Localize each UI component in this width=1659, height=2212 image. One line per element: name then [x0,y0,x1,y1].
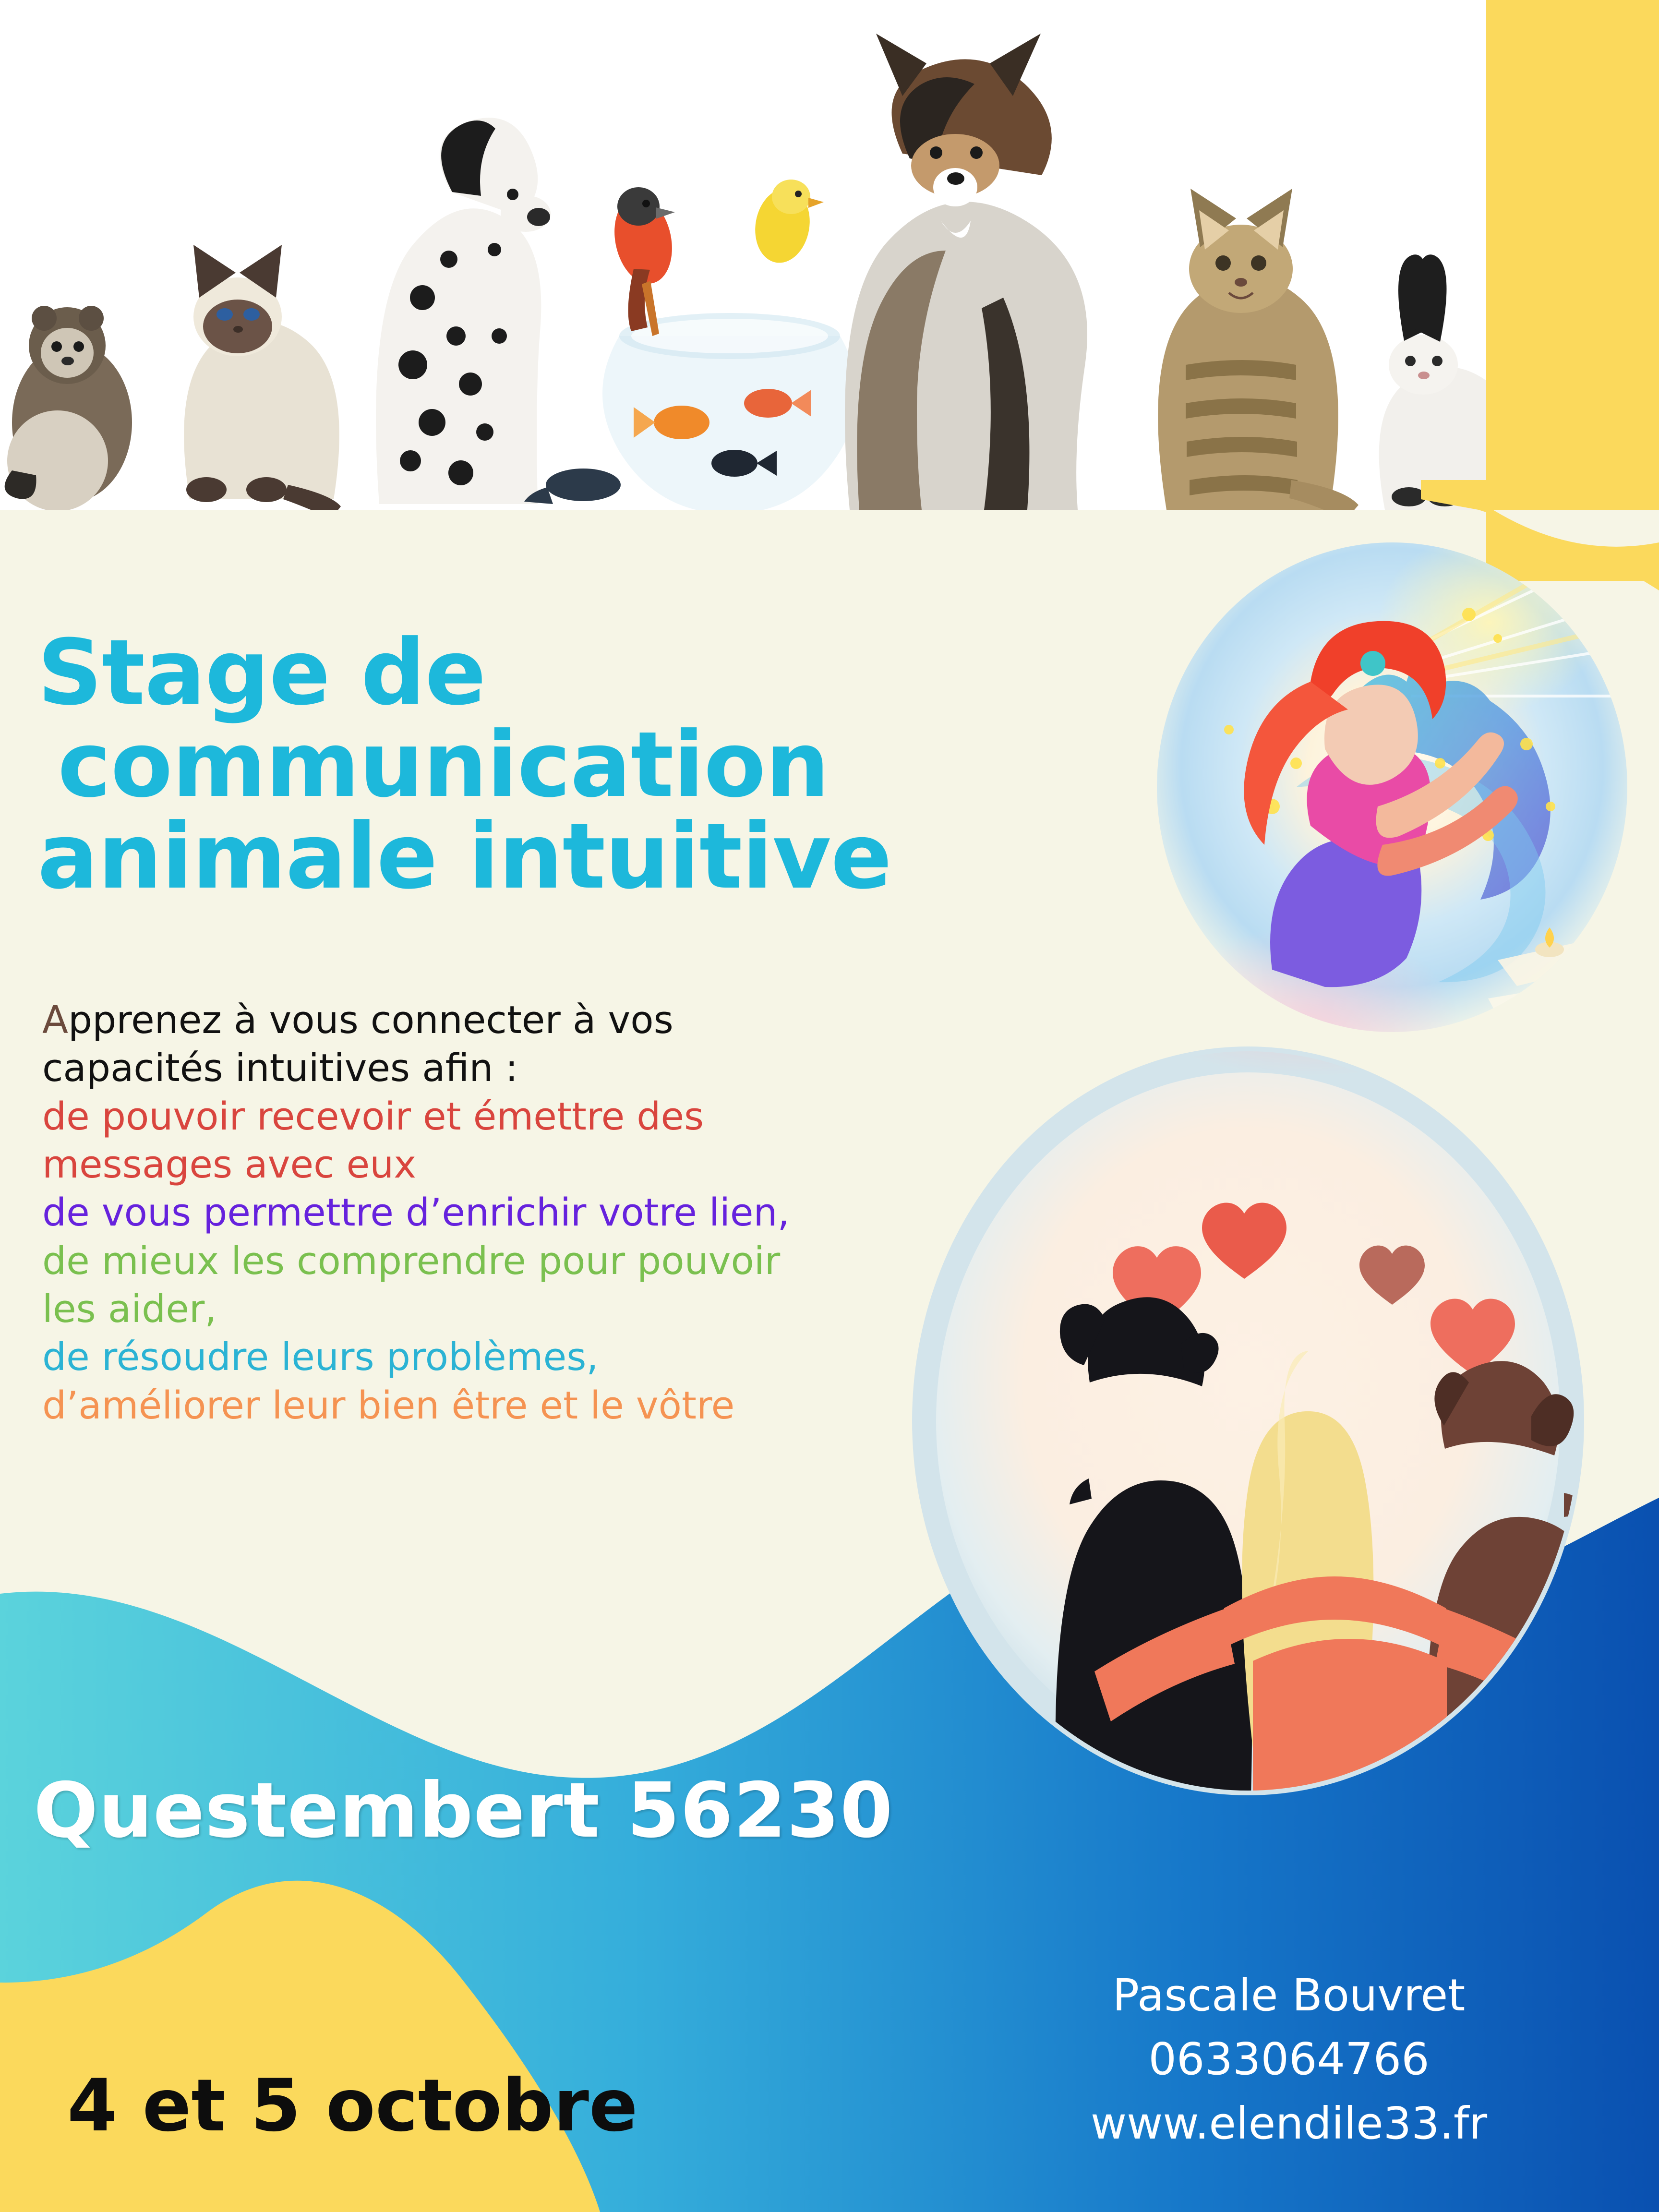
title-line-2: communication [58,719,1118,811]
illustration-woman-hugging-dogs [888,1046,1608,1795]
contact-block: Pascale Bouvret 0633064766 www.elendile3… [1013,1963,1565,2155]
pets-photo-banner [0,0,1486,510]
description-line-2: capacités intuitives afin : [42,1044,954,1092]
drop-cap-a: A [42,998,68,1042]
description-line-8: de résoudre leurs problèmes, [42,1333,954,1381]
description-line-1-rest: pprenez à vous connecter à vos [68,998,673,1042]
description-line-3: de pouvoir recevoir et émettre des [42,1093,954,1141]
title-line-1: Stage de [37,627,1118,719]
description-line-7: les aider, [42,1285,954,1333]
yellow-bottom-blob [0,1881,600,2212]
contact-phone[interactable]: 0633064766 [1013,2027,1565,2091]
torso [1253,1639,1447,1795]
hair-tie [1360,651,1385,676]
description-block: Apprenez à vous connecter à vos capacité… [42,996,954,1430]
location-text: Questembert 56230 [34,1767,893,1855]
description-line-5: de vous permettre d’enrichir votre lien, [42,1189,954,1237]
description-line-6: de mieux les comprendre pour pouvoir [42,1237,954,1285]
contact-website[interactable]: www.elendile33.fr [1013,2092,1565,2155]
description-line-9: d’améliorer leur bien être et le vôtre [42,1382,954,1430]
contact-name: Pascale Bouvret [1013,1963,1565,2027]
event-date: 4 et 5 octobre [67,2064,638,2148]
description-line-4: messages avec eux [42,1141,954,1189]
description-line-1: Apprenez à vous connecter à vos [42,996,954,1044]
title-line-3: animale intuitive [37,811,1118,903]
pen [1494,1005,1551,1018]
poster-title: Stage de communication animale intuitive [37,627,1118,903]
illustration-woman-spirit-dog [1152,538,1632,1046]
poster-root: Stage de communication animale intuitive… [0,0,1659,2212]
yellow-corner-strip [1486,0,1659,581]
